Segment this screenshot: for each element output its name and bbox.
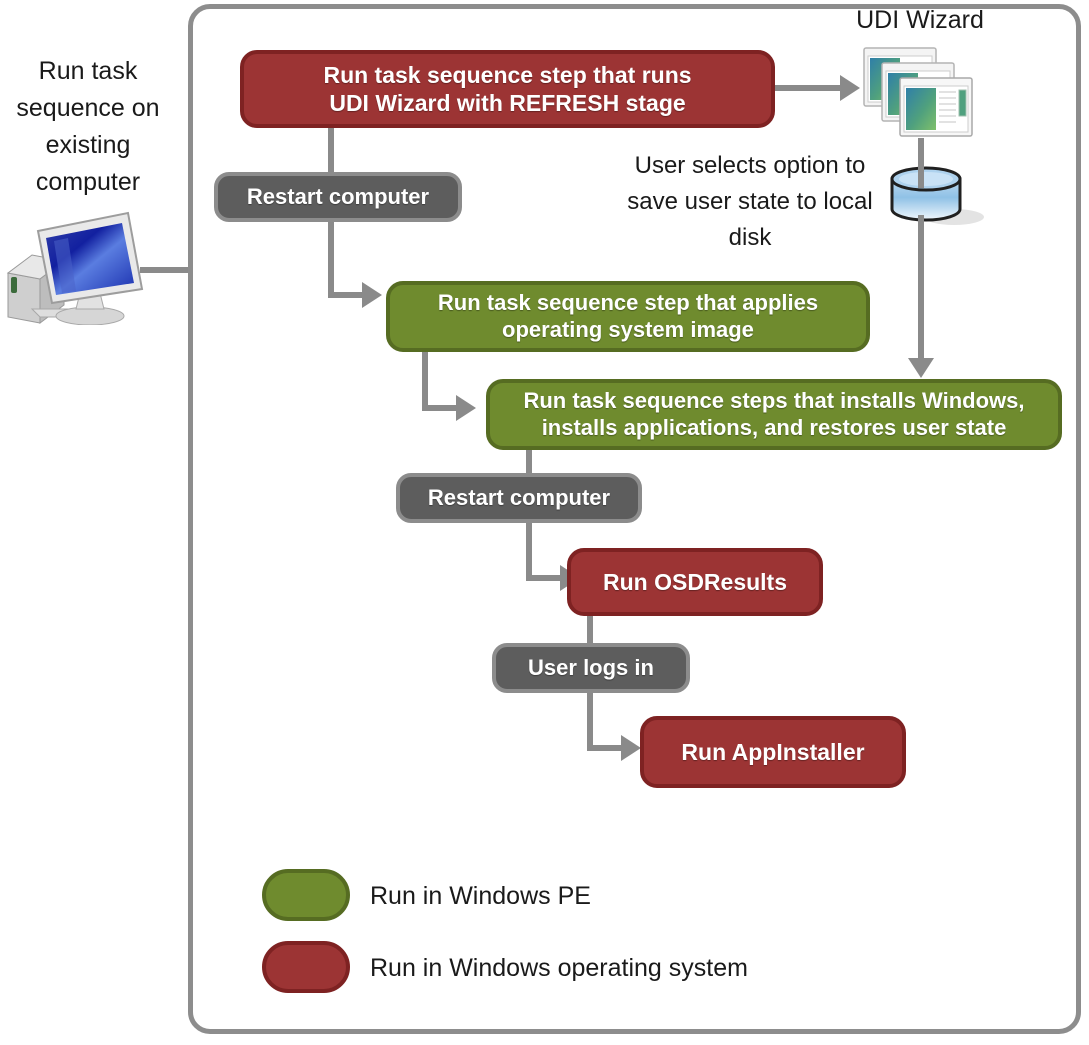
stacked-windows-icon bbox=[858, 44, 978, 144]
node-apply-os-image-line2: operating system image bbox=[502, 317, 754, 342]
node-restart-computer-2[interactable]: Restart computer bbox=[396, 473, 642, 523]
legend-label-windows-os: Run in Windows operating system bbox=[370, 953, 748, 983]
legend-label-windows-pe: Run in Windows PE bbox=[370, 881, 591, 911]
legend-swatch-windows-os bbox=[262, 941, 350, 993]
node-run-osdresults[interactable]: Run OSDResults bbox=[567, 548, 823, 616]
connector-disk-to-install bbox=[918, 215, 924, 365]
computer-to-panel-connector bbox=[140, 267, 190, 273]
arrow-into-wizard bbox=[840, 75, 860, 101]
connector-apply-os-down bbox=[422, 352, 428, 408]
user-selects-option-note: User selects option to save user state t… bbox=[620, 148, 880, 256]
node-user-logs-in[interactable]: User logs in bbox=[492, 643, 690, 693]
node-run-appinstaller[interactable]: Run AppInstaller bbox=[640, 716, 906, 788]
left-caption: Run task sequence on existing computer bbox=[8, 53, 168, 201]
arrow-into-apply-os bbox=[362, 282, 382, 308]
arrow-into-appinstaller bbox=[621, 735, 641, 761]
node-install-windows-apps-line1: Run task sequence steps that installs Wi… bbox=[523, 388, 1024, 413]
desktop-computer-icon bbox=[2, 205, 162, 325]
diagram-canvas: Run task sequence on existing computer bbox=[0, 0, 1089, 1045]
node-run-udi-wizard-line2: UDI Wizard with REFRESH stage bbox=[329, 90, 685, 116]
node-install-windows-apps[interactable]: Run task sequence steps that installs Wi… bbox=[486, 379, 1062, 450]
arrow-into-install-windows bbox=[908, 358, 934, 378]
database-cylinder-icon bbox=[884, 165, 988, 233]
arrow-into-install-windows-left bbox=[456, 395, 476, 421]
legend-swatch-windows-pe bbox=[262, 869, 350, 921]
udi-wizard-label: UDI Wizard bbox=[800, 6, 1040, 35]
node-run-udi-wizard-line1: Run task sequence step that runs bbox=[323, 62, 691, 88]
node-run-udi-wizard[interactable]: Run task sequence step that runs UDI Wiz… bbox=[240, 50, 775, 128]
node-restart-computer-1[interactable]: Restart computer bbox=[214, 172, 462, 222]
node-apply-os-image[interactable]: Run task sequence step that applies oper… bbox=[386, 281, 870, 352]
node-install-windows-apps-line2: installs applications, and restores user… bbox=[542, 415, 1007, 440]
connector-wizard-to-disk bbox=[918, 138, 924, 188]
node-apply-os-image-line1: Run task sequence step that applies bbox=[438, 290, 818, 315]
